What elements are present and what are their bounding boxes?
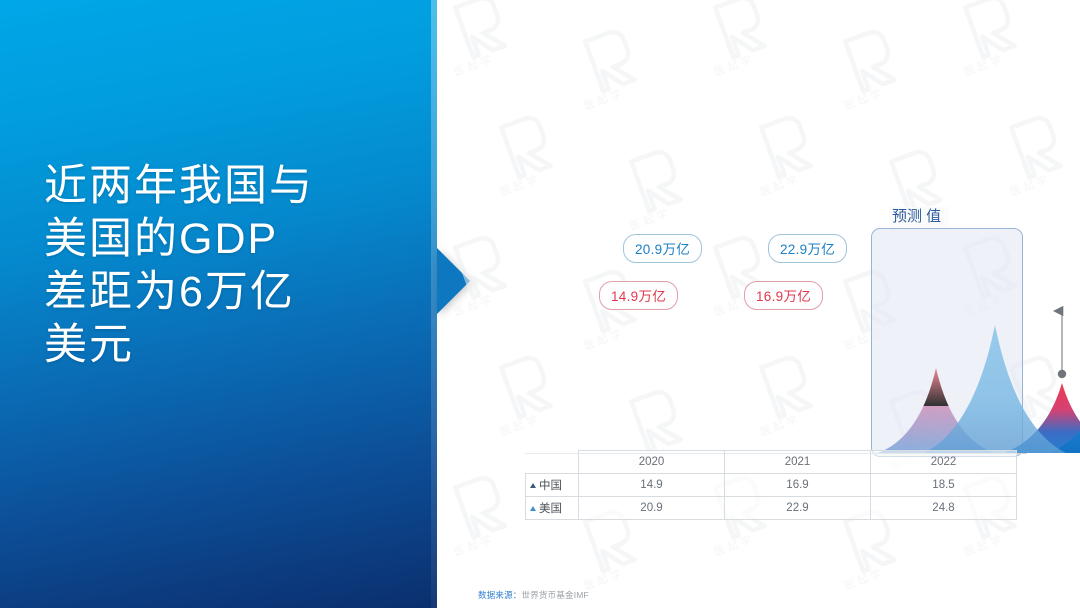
gdp-data-table: 2020 2021 2022 中国 14.9 16.9 18.5 美国 20.9… (525, 450, 1017, 520)
table-header-2020: 2020 (579, 451, 725, 474)
legend-item-usa: 美国 (526, 497, 579, 520)
legend-item-china: 中国 (526, 474, 579, 497)
table-header-2021: 2021 (725, 451, 871, 474)
cell-us-2021: 22.9 (725, 497, 871, 520)
callout-cn-2020: 14.9万亿 (599, 281, 678, 310)
slide-canvas: 近两年我国与 美国的GDP 差距为6万亿 美元 医起学医起学医起学医起学医起学医… (0, 0, 1080, 608)
cell-us-2022: 24.8 (871, 497, 1017, 520)
callout-cn-2021: 16.9万亿 (744, 281, 823, 310)
source-note: 数据来源：世界货币基金IMF (478, 589, 589, 601)
callout-us-2021: 22.9万亿 (768, 234, 847, 263)
cell-cn-2020: 14.9 (579, 474, 725, 497)
table-header-row: 2020 2021 2022 (526, 451, 1017, 474)
table-corner-cell (526, 451, 579, 474)
table-row: 美国 20.9 22.9 24.8 (526, 497, 1017, 520)
triangle-us-icon (530, 506, 536, 511)
table-header-2022: 2022 (871, 451, 1017, 474)
callout-us-2020: 20.9万亿 (623, 234, 702, 263)
legend-label-usa: 美国 (539, 503, 562, 515)
title-panel: 近两年我国与 美国的GDP 差距为6万亿 美元 (0, 0, 437, 608)
cell-us-2020: 20.9 (579, 497, 725, 520)
source-key: 数据来源： (478, 590, 522, 600)
page-title: 近两年我国与 美国的GDP 差距为6万亿 美元 (44, 160, 414, 372)
legend-label-china: 中国 (539, 480, 562, 492)
table-row: 中国 14.9 16.9 18.5 (526, 474, 1017, 497)
cell-cn-2022: 18.5 (871, 474, 1017, 497)
cell-cn-2021: 16.9 (725, 474, 871, 497)
triangle-cn-icon (530, 483, 536, 488)
source-value: 世界货币基金IMF (522, 590, 589, 600)
leader-dot-cn-2020 (1058, 370, 1066, 378)
